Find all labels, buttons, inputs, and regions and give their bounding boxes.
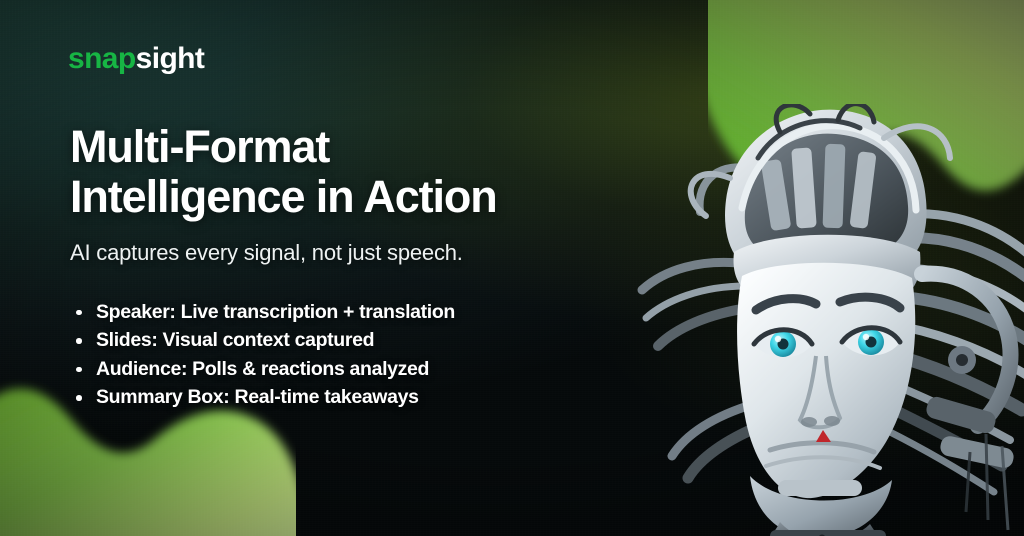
list-item: Speaker: Live transcription + translatio… [70,298,670,327]
hero-copy-block: Multi-Format Intelligence in Action AI c… [70,122,670,412]
robot-head-illustration [630,104,1024,536]
list-item: Audience: Polls & reactions analyzed [70,355,670,384]
robot-face [737,263,915,498]
list-item: Summary Box: Real-time takeaways [70,383,670,412]
headline-line-2: Intelligence in Action [70,172,670,222]
marketing-banner: snapsight Multi-Format Intelligence in A… [0,0,1024,536]
headline-line-1: Multi-Format [70,121,329,172]
list-item: Slides: Visual context captured [70,326,670,355]
logo-text-snap: snap [68,42,136,75]
page-title: Multi-Format Intelligence in Action [70,122,670,223]
subheadline: AI captures every signal, not just speec… [70,240,670,266]
logo-text-sight: sight [136,42,205,75]
brand-logo[interactable]: snapsight [68,44,204,74]
feature-list: Speaker: Live transcription + translatio… [70,298,670,412]
